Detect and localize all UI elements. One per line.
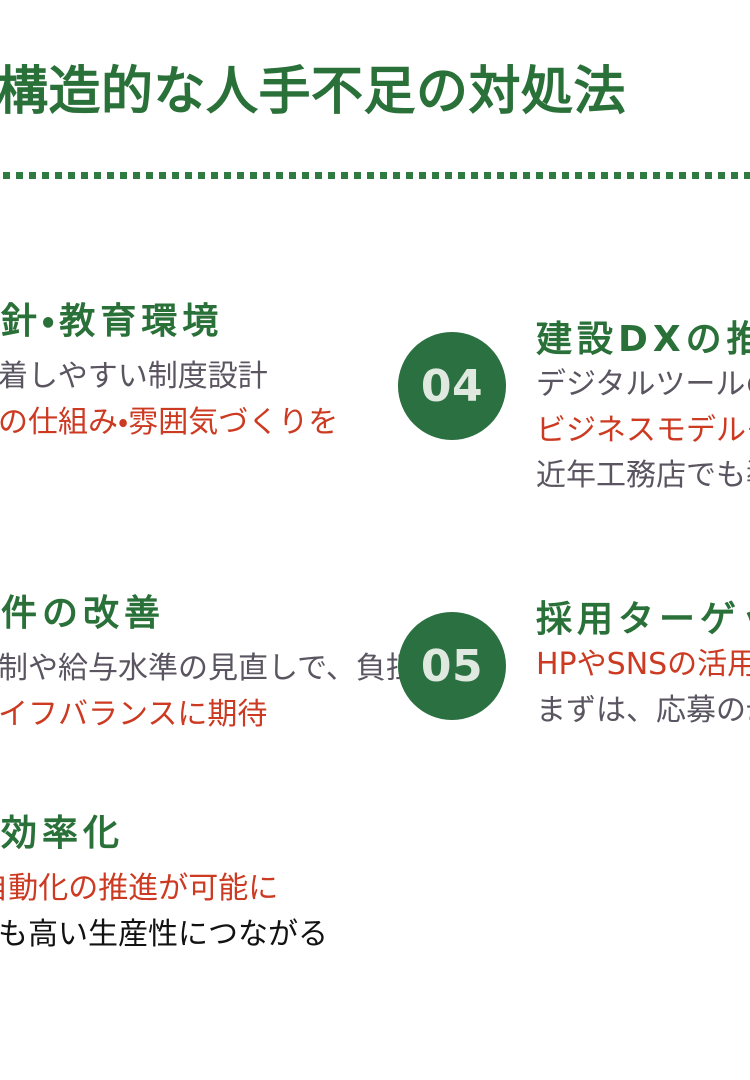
item-line: 少人数でも高い生産性につながる: [0, 912, 380, 958]
item-title: 採用ターゲットの拡大: [536, 598, 750, 642]
list-item: 03b 労働条件の改善 週休二日制や給与水準の見直しで、負担軽減・ ワークライフ…: [0, 592, 380, 737]
item-line: HPやSNSの活用で認知度を向上: [536, 642, 750, 688]
list-item: 04 建設DXの推進 デジタルツールの導入で ビジネスモデルそのものを変革 近年…: [398, 318, 750, 499]
left-column: 03 採用方針・教育環境 若手が定着しやすい制度設計 技術継承の仕組み・雰囲気づ…: [0, 0, 380, 1080]
item-line: 週休二日制や給与水準の見直しで、負担軽減・: [0, 646, 380, 692]
item-body: 採用方針・教育環境 若手が定着しやすい制度設計 技術継承の仕組み・雰囲気づくりを: [0, 300, 380, 445]
item-number-badge: 04: [398, 332, 506, 440]
item-title: 建設DXの推進: [536, 318, 750, 362]
item-line: 技術継承の仕組み・雰囲気づくりを: [0, 400, 380, 446]
item-title: 業務の効率化: [0, 812, 380, 866]
item-line: ビジネスモデルそのものを変革: [536, 408, 750, 454]
item-body: 採用ターゲットの拡大 HPやSNSの活用で認知度を向上 まずは、応募の母数を増や…: [506, 598, 750, 733]
list-item: 03c 業務の効率化 省人化・自動化の推進が可能に 少人数でも高い生産性につなが…: [0, 812, 380, 957]
item-line: 近年工務店でも導入が加速: [536, 453, 750, 499]
item-body: 建設DXの推進 デジタルツールの導入で ビジネスモデルそのものを変革 近年工務店…: [506, 318, 750, 499]
item-line: 若手が定着しやすい制度設計: [0, 354, 380, 400]
item-body: 労働条件の改善 週休二日制や給与水準の見直しで、負担軽減・ ワークライフバランス…: [0, 592, 380, 737]
infographic-canvas: 建設業の構造的な人手不足の対処法 03 採用方針・教育環境 若手が定着しやすい制…: [0, 0, 750, 1080]
item-body: 業務の効率化 省人化・自動化の推進が可能に 少人数でも高い生産性につながる: [0, 812, 380, 957]
list-item: 05 採用ターゲットの拡大 HPやSNSの活用で認知度を向上 まずは、応募の母数…: [398, 598, 750, 733]
item-line: まずは、応募の母数を増やす: [536, 688, 750, 734]
list-item: 03 採用方針・教育環境 若手が定着しやすい制度設計 技術継承の仕組み・雰囲気づ…: [0, 300, 380, 445]
item-line: ワークライフバランスに期待: [0, 692, 380, 738]
item-line: 省人化・自動化の推進が可能に: [0, 866, 380, 912]
right-column: 04 建設DXの推進 デジタルツールの導入で ビジネスモデルそのものを変革 近年…: [398, 0, 750, 1080]
item-title: 採用方針・教育環境: [0, 300, 380, 354]
item-line: デジタルツールの導入で: [536, 362, 750, 408]
item-title: 労働条件の改善: [0, 592, 380, 646]
item-number-badge: 05: [398, 612, 506, 720]
